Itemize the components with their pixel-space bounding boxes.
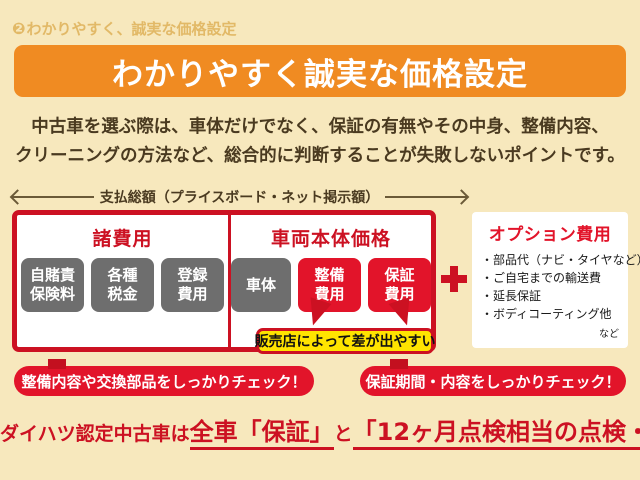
vehicle-chip-body: 車体: [231, 258, 291, 312]
fee-chip-taxes-line1: 各種: [107, 266, 137, 285]
options-list: ・部品代（ナビ・タイヤなど） ・ご自宅までの輸送費 ・延長保証 ・ボディコーティ…: [481, 251, 619, 323]
banner-tab: [390, 359, 408, 369]
options-list-item: ・延長保証: [481, 287, 619, 305]
dealer-variance-callout: 販売店によって差が出やすい: [256, 328, 434, 354]
headline-banner: わかりやすく誠実な価格設定: [14, 45, 626, 97]
fees-column: 諸費用 自賭責 保険料 各種 税金 登録 費用: [17, 215, 231, 347]
fee-chip-registration-line2: 費用: [177, 285, 207, 304]
fee-chip-registration-line1: 登録: [177, 266, 207, 285]
fee-chip-insurance-line1: 自賭責: [30, 266, 75, 285]
plus-icon: [441, 266, 467, 292]
section-eyebrow-label: わかりやすく、誠実な価格設定: [27, 18, 237, 39]
check-banner-warranty-label: 保証期間・内容をしっかりチェック！: [365, 371, 620, 392]
bottom-tagline: ダイハツ認定中古車は全車「保証」と「12ヶ月点検相当の点検・整備」付き: [0, 412, 640, 447]
bottom-tagline-conjunction: と: [334, 423, 353, 445]
headline-title: わかりやすく誠実な価格設定: [112, 49, 528, 94]
lead-paragraph: 中古車を選ぶ際は、車体だけでなく、保証の有無やその中身、整備内容、 クリーニング…: [0, 113, 640, 171]
section-eyebrow: ❷ わかりやすく、誠実な価格設定: [12, 18, 237, 39]
options-list-item: ・ボディコーティング他: [481, 305, 619, 323]
fees-chip-row: 自賭責 保険料 各種 税金 登録 費用: [17, 258, 228, 312]
total-payment-arrow: 支払総額（プライスボード・ネット掲示額）: [12, 186, 467, 208]
section-number-icon: ❷: [12, 21, 26, 37]
options-footnote: など: [481, 325, 619, 340]
bottom-tagline-warranty: 全車「保証」: [190, 418, 334, 450]
options-list-item: ・部品代（ナビ・タイヤなど）: [481, 251, 619, 269]
fees-heading: 諸費用: [17, 224, 228, 251]
vehicle-chip-body-line1: 車体: [246, 276, 276, 295]
fee-chip-insurance-line2: 保険料: [30, 285, 75, 304]
fee-chip-registration: 登録 費用: [161, 258, 224, 312]
vehicle-chip-maintenance-line1: 整備: [314, 266, 344, 285]
bottom-tagline-part1: ダイハツ認定中古車は: [0, 423, 190, 445]
fee-chip-insurance: 自賭責 保険料: [21, 258, 84, 312]
bottom-tagline-inspection: 「12ヶ月点検相当の点検・整備」: [353, 418, 640, 450]
fee-chip-taxes-line2: 税金: [107, 285, 137, 304]
infographic-page: ❷ わかりやすく、誠実な価格設定 わかりやすく誠実な価格設定 中古車を選ぶ際は、…: [0, 0, 640, 480]
total-payment-label: 支払総額（プライスボード・ネット掲示額）: [100, 187, 380, 207]
check-banner-maintenance: 整備内容や交換部品をしっかりチェック！: [14, 366, 314, 396]
arrow-left-segment: [12, 196, 94, 198]
vehicle-chip-warranty-line1: 保証: [384, 266, 414, 285]
check-banner-maintenance-label: 整備内容や交換部品をしっかりチェック！: [21, 371, 306, 392]
options-list-item: ・ご自宅までの輸送費: [481, 269, 619, 287]
options-heading: オプション費用: [481, 220, 619, 245]
arrow-right-segment: [385, 196, 467, 198]
banner-tab: [48, 359, 66, 369]
lead-line-2: クリーニングの方法など、総合的に判断することが失敗しないポイントです。: [0, 142, 640, 171]
vehicle-price-heading: 車両本体価格: [231, 224, 431, 251]
fee-chip-taxes: 各種 税金: [91, 258, 154, 312]
options-panel: オプション費用 ・部品代（ナビ・タイヤなど） ・ご自宅までの輸送費 ・延長保証 …: [472, 212, 628, 348]
check-banner-warranty: 保証期間・内容をしっかりチェック！: [360, 366, 626, 396]
lead-line-1: 中古車を選ぶ際は、車体だけでなく、保証の有無やその中身、整備内容、: [0, 113, 640, 142]
